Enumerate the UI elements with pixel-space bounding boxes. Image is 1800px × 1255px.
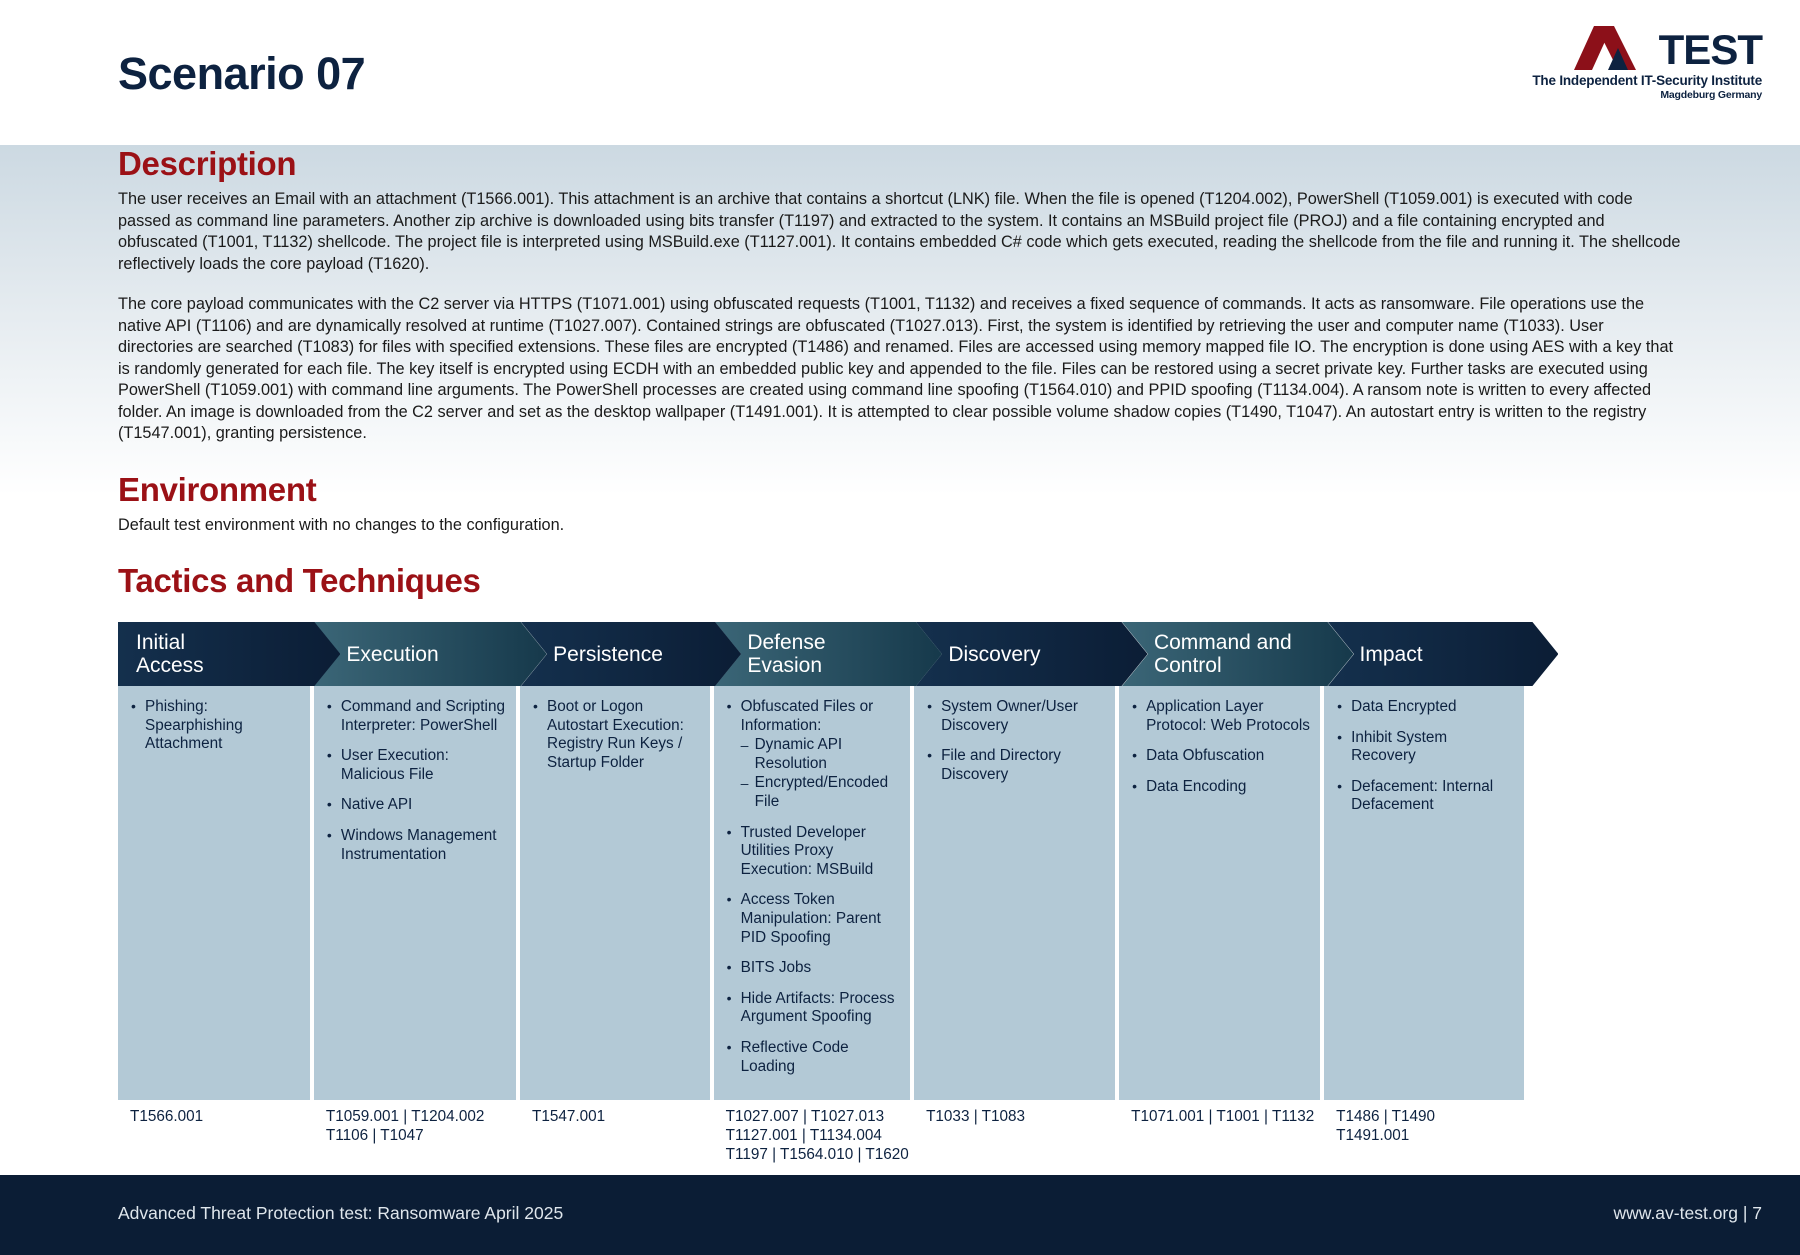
tactic-header-label: InitialAccess [136, 631, 204, 677]
logo-location: Magdeburg Germany [1512, 89, 1762, 101]
tactic-header-3[interactable]: Persistence [521, 622, 741, 686]
technique-item: Native API [326, 796, 506, 815]
tactic-column-7: Data EncryptedInhibit System RecoveryDef… [1324, 686, 1524, 1100]
technique-ids-7: T1486 | T1490T1491.001 [1324, 1107, 1524, 1164]
av-test-logo: TEST The Independent IT-Security Institu… [1512, 24, 1762, 101]
tactic-column-6: Application Layer Protocol: Web Protocol… [1119, 686, 1320, 1100]
tactic-header-label: Command andControl [1140, 631, 1292, 677]
technique-item: Trusted Developer Utilities Proxy Execut… [726, 824, 900, 880]
tactic-header-label: Impact [1346, 643, 1423, 666]
tactic-header-1[interactable]: InitialAccess [118, 622, 340, 686]
technique-item: Command and Scripting Interpreter: Power… [326, 698, 506, 735]
technique-item: Windows Management Instrumentation [326, 827, 506, 864]
tactic-header-7[interactable]: Impact [1328, 622, 1558, 686]
technique-ids-2: T1059.001 | T1204.002T1106 | T1047 [314, 1107, 516, 1164]
tactic-header-label: Discovery [934, 643, 1040, 666]
technique-item: Data Encrypted [1336, 698, 1514, 717]
description-heading: Description [118, 145, 1683, 183]
tactic-header-label: Execution [332, 643, 438, 666]
technique-ids-4: T1027.007 | T1027.013T1127.001 | T1134.0… [714, 1107, 910, 1164]
footer-url-page: www.av-test.org | 7 [1614, 1203, 1763, 1224]
tactic-header-2[interactable]: Execution [314, 622, 547, 686]
technique-item: BITS Jobs [726, 959, 900, 978]
technique-ids-3: T1547.001 [520, 1107, 710, 1164]
technique-item: Inhibit System Recovery [1336, 729, 1514, 766]
av-mark-icon [1574, 26, 1662, 70]
page-footer: Advanced Threat Protection test: Ransomw… [0, 1175, 1800, 1255]
tactic-column-3: Boot or Logon Autostart Execution: Regis… [520, 686, 710, 1100]
tactics-ids-row: T1566.001T1059.001 | T1204.002T1106 | T1… [118, 1107, 1528, 1164]
description-paragraph-1: The user receives an Email with an attac… [118, 189, 1683, 275]
technique-item: User Execution: Malicious File [326, 747, 506, 784]
technique-subitem: Dynamic API Resolution [741, 736, 900, 773]
technique-ids-5: T1033 | T1083 [914, 1107, 1115, 1164]
description-paragraph-2: The core payload communicates with the C… [118, 294, 1683, 445]
tactic-header-label: Persistence [539, 643, 663, 666]
technique-item: Obfuscated Files or Information:Dynamic … [726, 698, 900, 812]
footer-test-name: Advanced Threat Protection test: Ransomw… [118, 1203, 563, 1224]
technique-item: Reflective Code Loading [726, 1039, 900, 1076]
tactic-column-2: Command and Scripting Interpreter: Power… [314, 686, 516, 1100]
tactic-column-5: System Owner/User DiscoveryFile and Dire… [914, 686, 1115, 1100]
technique-item: Data Obfuscation [1131, 747, 1310, 766]
tactics-heading: Tactics and Techniques [118, 562, 1683, 600]
technique-item: Defacement: Internal Defacement [1336, 778, 1514, 815]
tactics-body-row: Phishing: Spearphishing AttachmentComman… [118, 686, 1528, 1100]
page-title: Scenario 07 [118, 48, 365, 100]
tactic-header-4[interactable]: DefenseEvasion [715, 622, 942, 686]
environment-text: Default test environment with no changes… [118, 515, 1683, 537]
tactics-header-row: InitialAccessExecutionPersistenceDefense… [118, 622, 1528, 686]
technique-subitem: Encrypted/Encoded File [741, 774, 900, 811]
tactic-header-5[interactable]: Discovery [916, 622, 1148, 686]
technique-item: Boot or Logon Autostart Execution: Regis… [532, 698, 700, 772]
tactic-column-4: Obfuscated Files or Information:Dynamic … [714, 686, 910, 1100]
technique-item: File and Directory Discovery [926, 747, 1105, 784]
technique-item: Data Encoding [1131, 778, 1310, 797]
technique-ids-6: T1071.001 | T1001 | T1132 [1119, 1107, 1320, 1164]
main-panel: Description The user receives an Email w… [0, 145, 1800, 1175]
technique-item: Application Layer Protocol: Web Protocol… [1131, 698, 1310, 735]
logo-tagline: The Independent IT-Security Institute [1512, 73, 1762, 88]
content-area: Description The user receives an Email w… [118, 145, 1683, 1164]
technique-item: Phishing: Spearphishing Attachment [130, 698, 300, 754]
logo-wordmark: TEST [1659, 30, 1762, 70]
environment-heading: Environment [118, 471, 1683, 509]
tactic-column-1: Phishing: Spearphishing Attachment [118, 686, 310, 1100]
technique-ids-1: T1566.001 [118, 1107, 310, 1164]
technique-item: Hide Artifacts: Process Argument Spoofin… [726, 990, 900, 1027]
technique-item: Access Token Manipulation: Parent PID Sp… [726, 891, 900, 947]
page-header: Scenario 07 TEST The Independent IT-Secu… [0, 0, 1800, 145]
technique-item: System Owner/User Discovery [926, 698, 1105, 735]
tactic-header-label: DefenseEvasion [733, 631, 825, 677]
tactic-header-6[interactable]: Command andControl [1122, 622, 1354, 686]
tactics-table: InitialAccessExecutionPersistenceDefense… [118, 622, 1683, 1164]
